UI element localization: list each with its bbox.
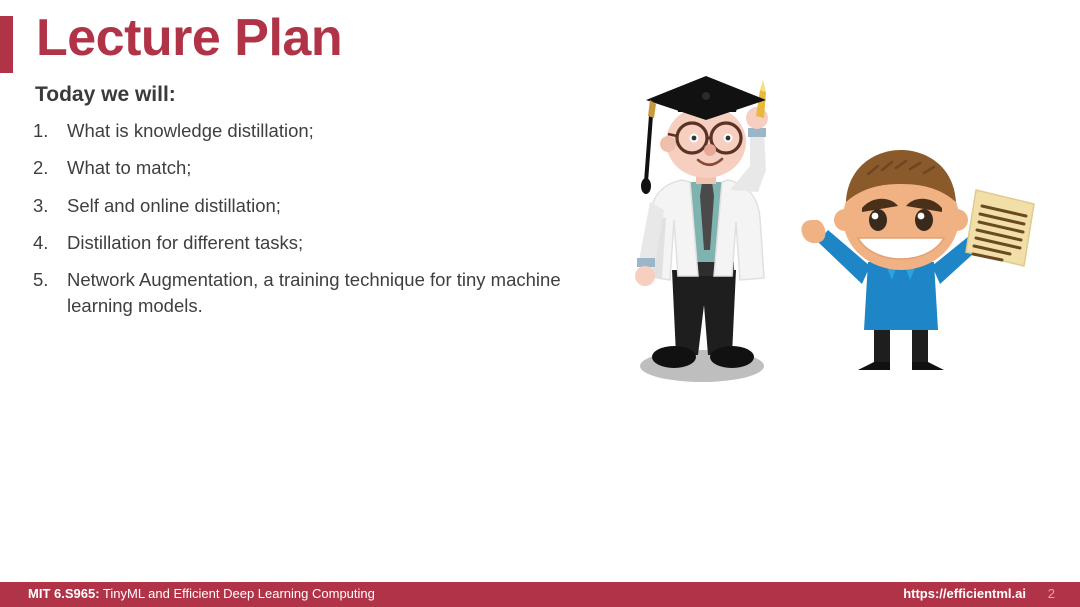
professor-pupil-left: [692, 136, 697, 141]
footer-page-number: 2: [1048, 586, 1055, 601]
certificate-icon: [966, 190, 1034, 266]
professor-coat-right: [714, 180, 764, 280]
student-ear-right: [946, 209, 968, 231]
lecture-illustration: [590, 70, 1060, 390]
student-eye-right: [915, 209, 933, 231]
student-ear-left: [834, 209, 856, 231]
list-item-label: What is knowledge distillation;: [67, 118, 314, 144]
list-item-label: Distillation for different tasks;: [67, 230, 303, 256]
list-item: 1. What is knowledge distillation;: [33, 118, 573, 144]
list-item: 5. Network Augmentation, a training tech…: [33, 267, 573, 320]
list-item-number: 1.: [33, 118, 67, 144]
footer-bar: MIT 6.S965: TinyML and Efficient Deep Le…: [0, 582, 1080, 607]
list-item-number: 5.: [33, 267, 67, 293]
subtitle: Today we will:: [35, 83, 176, 107]
professor-ear: [660, 136, 676, 152]
professor-character: [635, 76, 768, 382]
list-item: 2. What to match;: [33, 155, 573, 181]
professor-nose: [704, 144, 716, 156]
professor-hand-left: [635, 266, 655, 286]
student-leg-right: [912, 328, 928, 362]
agenda-list: 1. What is knowledge distillation; 2. Wh…: [33, 118, 573, 331]
list-item-label: Self and online distillation;: [67, 193, 281, 219]
student-shirt: [864, 262, 938, 330]
footer-course-title: TinyML and Efficient Deep Learning Compu…: [100, 586, 375, 601]
professor-shoe-right: [710, 346, 754, 368]
professor-trousers: [672, 270, 736, 355]
slide: Lecture Plan Today we will: 1. What is k…: [0, 0, 1080, 607]
professor-shoe-left: [652, 346, 696, 368]
list-item-number: 2.: [33, 155, 67, 181]
footer-course: MIT 6.S965: TinyML and Efficient Deep Le…: [28, 586, 375, 601]
list-item-label: Network Augmentation, a training techniq…: [67, 267, 573, 320]
student-character: [801, 150, 1034, 370]
list-item-number: 4.: [33, 230, 67, 256]
student-fist-left: [801, 220, 825, 243]
professor-cuff-left: [637, 258, 655, 267]
professor-arm-right: [730, 166, 766, 192]
student-shoe-right: [912, 362, 944, 370]
footer-url-link[interactable]: https://efficientml.ai: [903, 586, 1026, 601]
cap-tassel-end: [641, 178, 651, 194]
student-eye-left: [869, 209, 887, 231]
professor-cuff-right: [748, 128, 766, 137]
list-item: 3. Self and online distillation;: [33, 193, 573, 219]
student-leg-left: [874, 328, 890, 362]
list-item: 4. Distillation for different tasks;: [33, 230, 573, 256]
list-item-label: What to match;: [67, 155, 191, 181]
title-accent-bar: [0, 16, 13, 73]
professor-pupil-right: [726, 136, 731, 141]
footer-course-code: MIT 6.S965:: [28, 586, 100, 601]
cap-button: [702, 92, 710, 100]
list-item-number: 3.: [33, 193, 67, 219]
student-shoe-left: [858, 362, 890, 370]
page-title: Lecture Plan: [36, 10, 342, 67]
